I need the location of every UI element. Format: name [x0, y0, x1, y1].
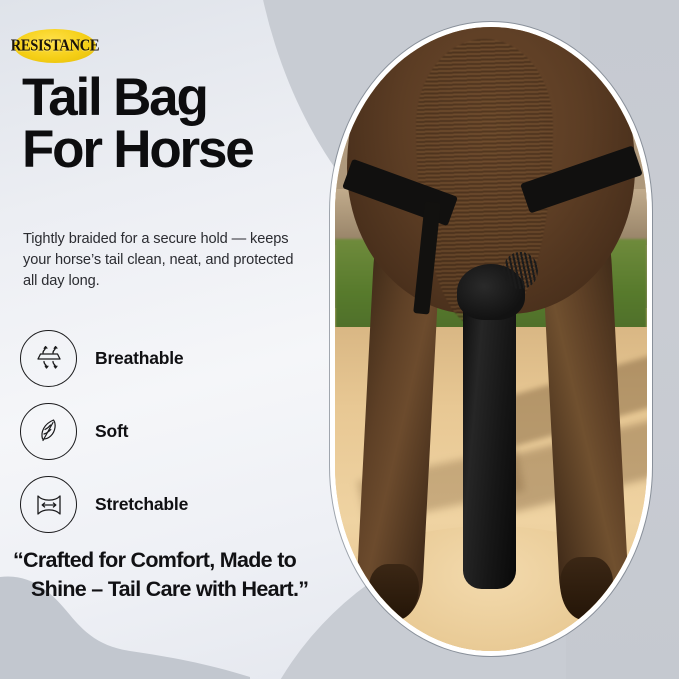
feature-item-soft: Soft — [20, 395, 320, 468]
breathable-airflow-icon — [20, 330, 77, 387]
feature-label: Breathable — [95, 348, 183, 369]
feature-item-breathable: Breathable — [20, 322, 320, 395]
stretch-fabric-icon — [20, 476, 77, 533]
tail-bag-product — [463, 283, 516, 589]
feature-label: Soft — [95, 421, 128, 442]
page-title: Tail Bag For Horse — [22, 72, 322, 176]
product-photo — [335, 27, 647, 651]
tail-bag-tuft — [503, 252, 537, 289]
brand-logo-badge: RESISTANCE — [14, 29, 96, 63]
horse-right-hoof — [560, 557, 613, 619]
copy-column: RESISTANCE Tail Bag For Horse Tightly br… — [0, 0, 330, 679]
feather-icon — [20, 403, 77, 460]
headline-line-2: For Horse — [22, 124, 322, 176]
feature-list: Breathable Soft — [20, 322, 320, 541]
feature-item-stretchable: Stretchable — [20, 468, 320, 541]
quote-line-1: “Crafted for Comfort, Made to — [13, 546, 331, 575]
tagline-quote: “Crafted for Comfort, Made to Shine – Ta… — [13, 546, 331, 603]
product-photo-frame — [330, 22, 652, 656]
description-text: Tightly braided for a secure hold — keep… — [23, 229, 295, 292]
feature-label: Stretchable — [95, 494, 188, 515]
headline-line-1: Tail Bag — [22, 72, 322, 124]
product-ad-banner: RESISTANCE Tail Bag For Horse Tightly br… — [0, 0, 679, 679]
brand-logo-text: RESISTANCE — [11, 36, 100, 56]
quote-line-2: Shine – Tail Care with Heart.” — [13, 575, 331, 604]
